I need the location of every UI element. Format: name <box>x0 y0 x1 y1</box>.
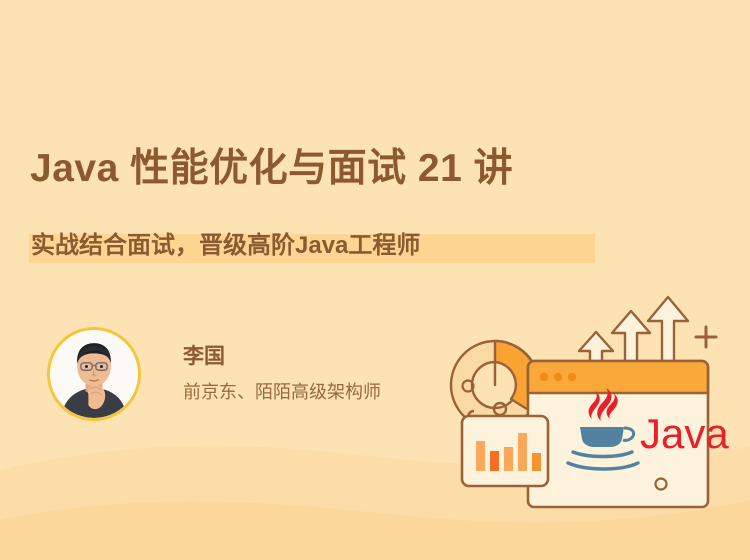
java-wordmark: Java <box>640 410 729 457</box>
page-title: Java 性能优化与面试 21 讲 <box>30 148 513 191</box>
plus-mark <box>696 327 716 347</box>
java-performance-illustration: Java <box>440 285 740 515</box>
course-cover-poster: Java 性能优化与面试 21 讲 实战结合面试，晋级高阶Java工程师 <box>0 0 750 560</box>
browser-window-graphic: Java <box>528 361 729 507</box>
author-info: 李国 前京东、陌陌高级架构师 <box>183 343 381 405</box>
page-subtitle: 实战结合面试，晋级高阶Java工程师 <box>29 229 420 263</box>
author-title: 前京东、陌陌高级架构师 <box>183 381 381 404</box>
author-block: 李国 前京东、陌陌高级架构师 <box>47 327 381 421</box>
author-name: 李国 <box>183 343 381 370</box>
avatar <box>47 327 141 421</box>
bar-chart-card-graphic <box>462 403 548 486</box>
subtitle-block: 实战结合面试，晋级高阶Java工程师 <box>29 229 420 263</box>
